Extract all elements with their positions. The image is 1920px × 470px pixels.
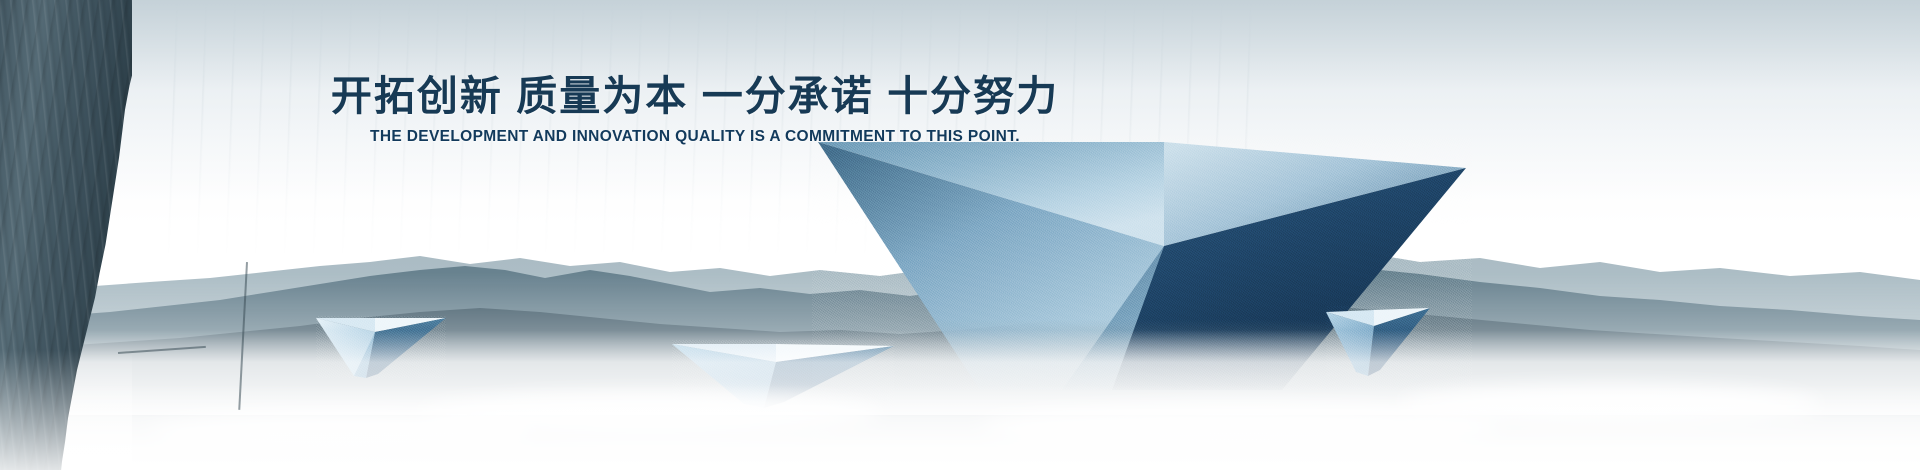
mist-band-lower (0, 385, 1920, 470)
rock-cliff-left (0, 0, 132, 470)
hero-banner: 开拓创新 质量为本 一分承诺 十分努力 THE DEVELOPMENT AND … (0, 0, 1920, 470)
cliff-bottom-fade (0, 350, 132, 470)
